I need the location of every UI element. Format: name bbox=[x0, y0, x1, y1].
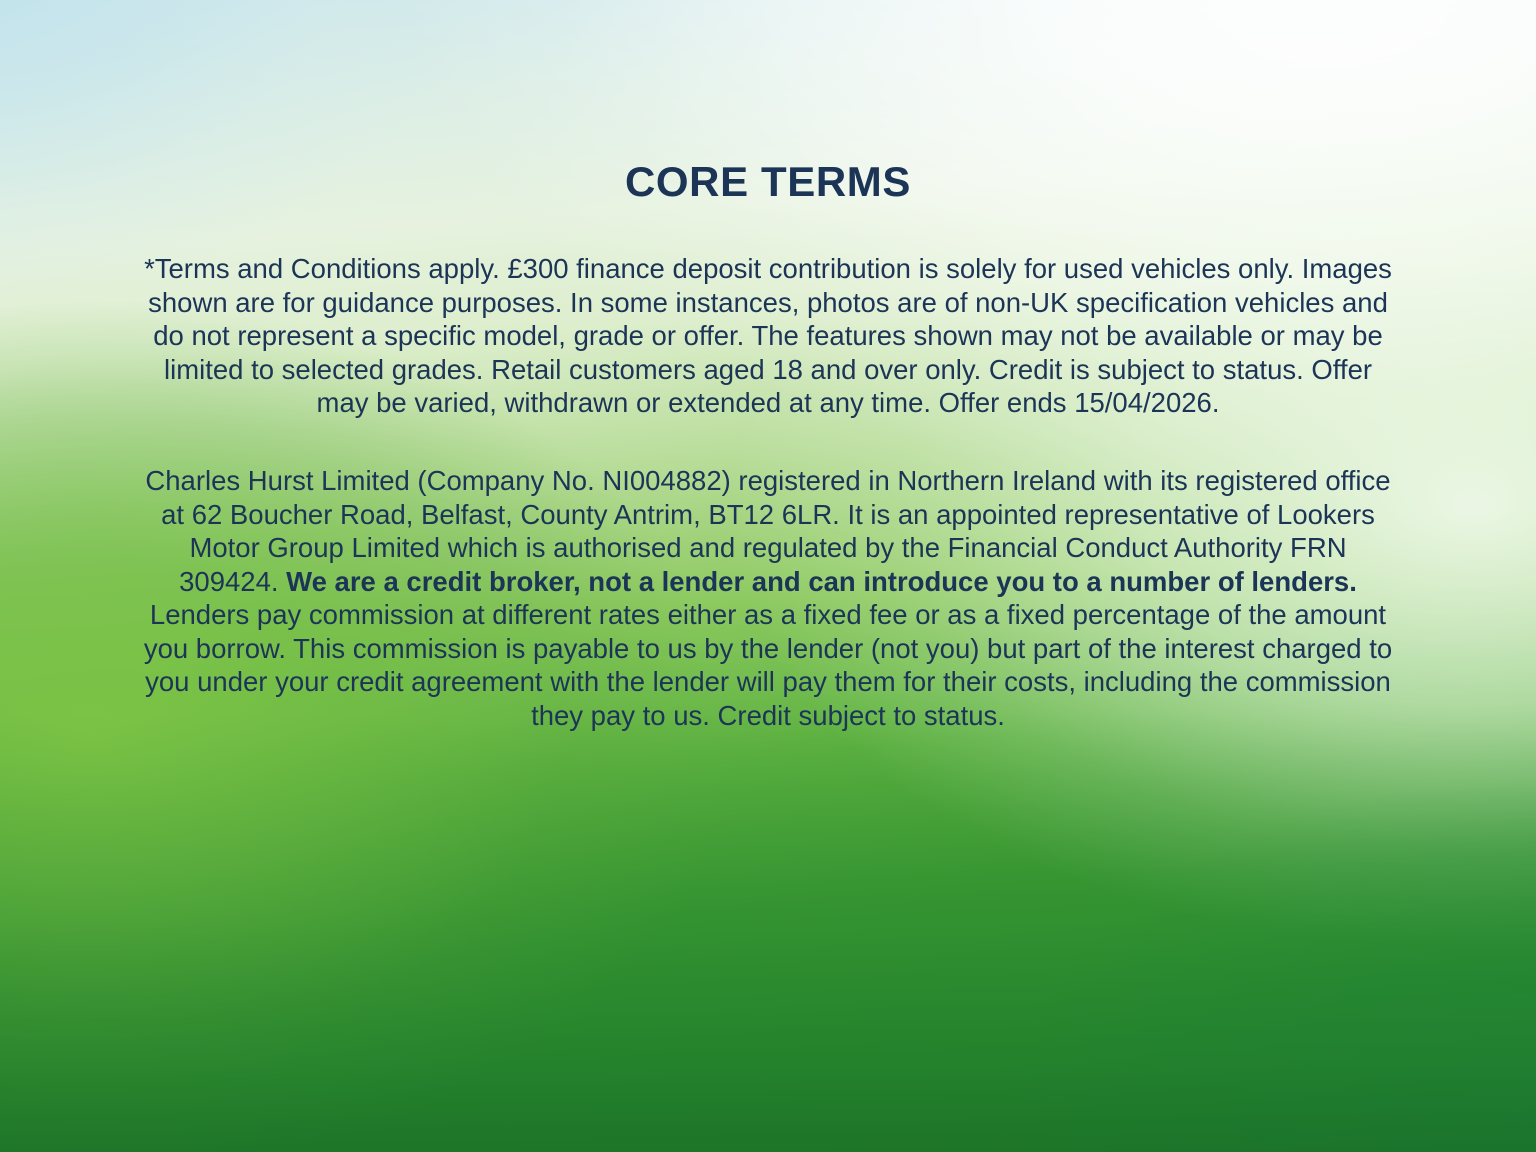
terms-body: *Terms and Conditions apply. £300 financ… bbox=[138, 206, 1398, 732]
disclaimer-paragraph: *Terms and Conditions apply. £300 financ… bbox=[138, 206, 1398, 420]
terms-slide: CORE TERMS *Terms and Conditions apply. … bbox=[0, 0, 1536, 1152]
lower-empty-area bbox=[0, 732, 1536, 1092]
regulatory-paragraph: Charles Hurst Limited (Company No. NI004… bbox=[138, 420, 1398, 732]
regulatory-text-commission: Lenders pay commission at different rate… bbox=[144, 599, 1392, 731]
credit-broker-statement: We are a credit broker, not a lender and… bbox=[286, 566, 1357, 597]
slide-content: CORE TERMS *Terms and Conditions apply. … bbox=[0, 0, 1536, 1092]
page-title: CORE TERMS bbox=[0, 0, 1536, 206]
